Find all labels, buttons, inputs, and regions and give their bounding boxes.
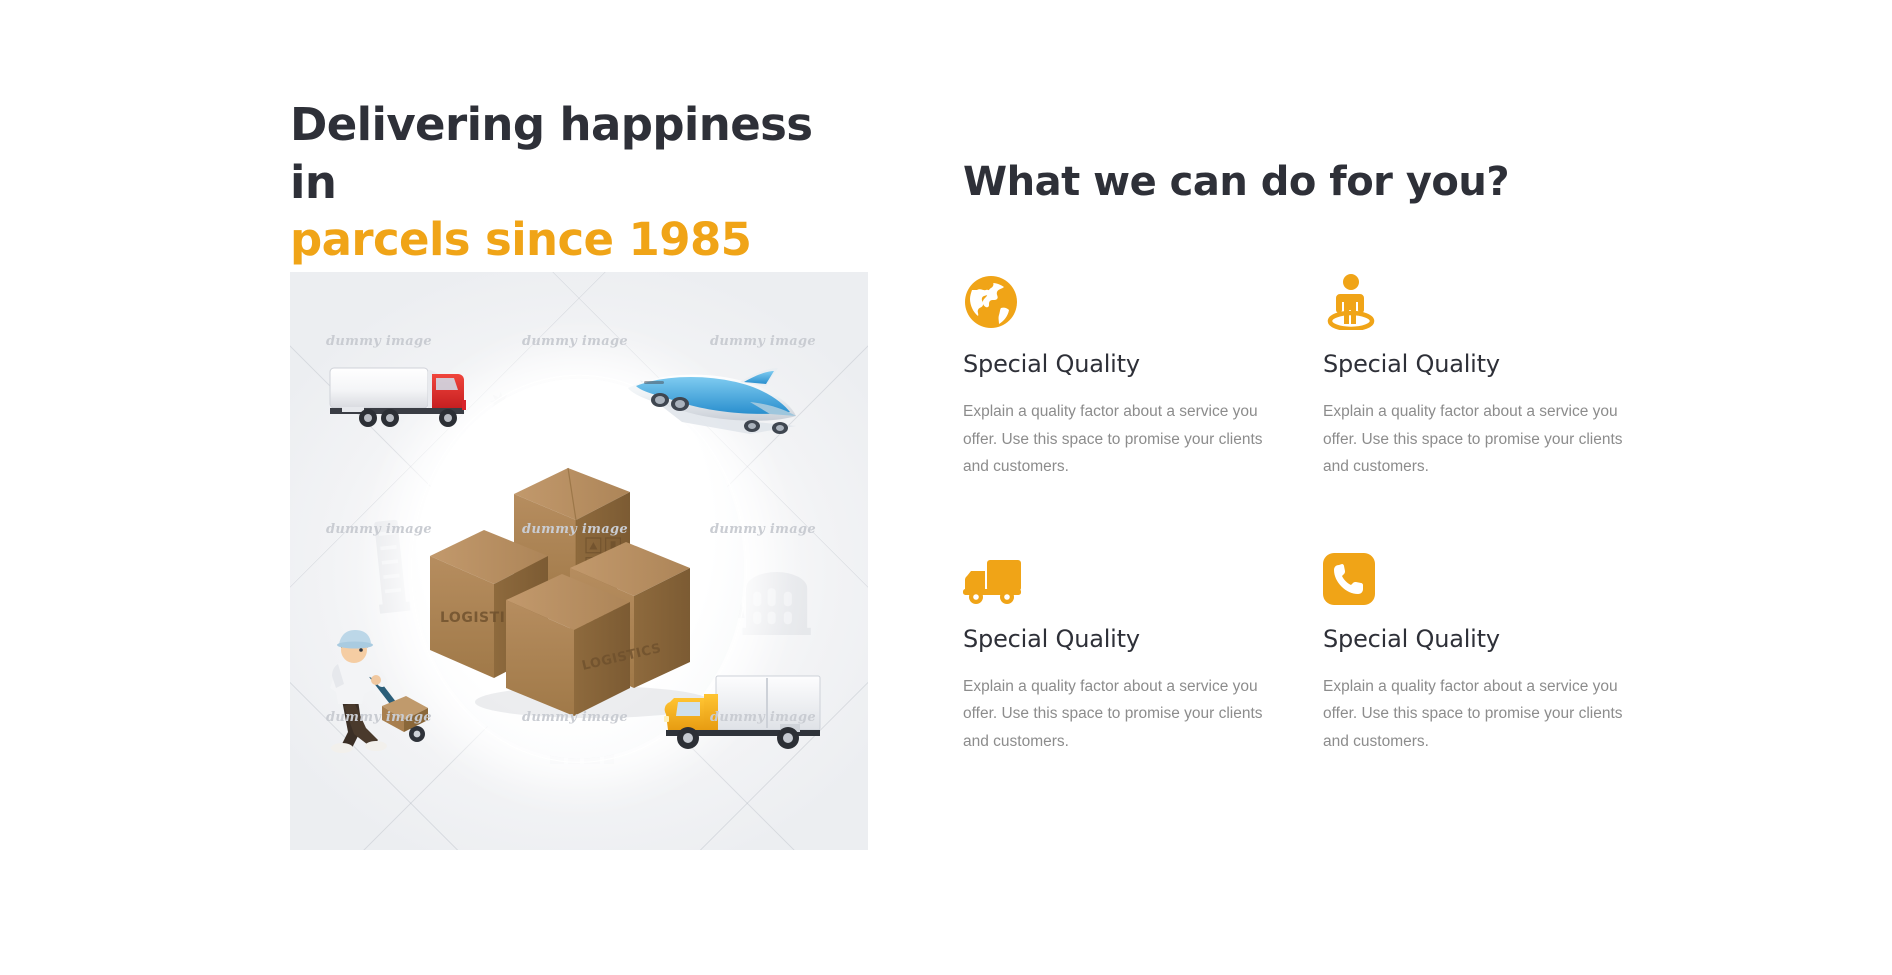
service-card-title: Special Quality (1323, 625, 1643, 653)
landing-page-section: Delivering happiness in parcels since 19… (0, 0, 1892, 975)
cargo-truck-icon (328, 360, 480, 432)
person-location-icon (1323, 268, 1385, 330)
globe-icon (963, 268, 1025, 330)
services-header-block: What we can do for you? (963, 158, 1663, 206)
hero-title-line-2: parcels since 1985 (290, 211, 870, 269)
service-card-body: Explain a quality factor about a service… (1323, 673, 1643, 756)
service-card-body: Explain a quality factor about a service… (1323, 398, 1643, 481)
service-card-body: Explain a quality factor about a service… (963, 398, 1283, 481)
service-card-4[interactable]: Special Quality Explain a quality factor… (1323, 543, 1643, 756)
hero-text-block: Delivering happiness in parcels since 19… (290, 96, 870, 269)
logistics-illustration: LOGISTICS (290, 272, 868, 850)
services-heading: What we can do for you? (963, 158, 1663, 206)
hero-title-line-1: Delivering happiness in (290, 96, 870, 211)
watermark-text: dummy image (710, 710, 816, 725)
watermark-text: dummy image (522, 710, 628, 725)
service-card-3[interactable]: Special Quality Explain a quality factor… (963, 543, 1283, 756)
services-grid: Special Quality Explain a quality factor… (963, 268, 1683, 755)
page-title: Delivering happiness in parcels since 19… (290, 96, 870, 269)
watermark-text: dummy image (710, 334, 816, 349)
service-card-title: Special Quality (963, 350, 1283, 378)
service-card-1[interactable]: Special Quality Explain a quality factor… (963, 268, 1283, 481)
watermark-text: dummy image (326, 710, 432, 725)
service-card-2[interactable]: Special Quality Explain a quality factor… (1323, 268, 1643, 481)
watermark-text: dummy image (522, 334, 628, 349)
delivery-truck-icon (963, 543, 1025, 605)
watermark-text: dummy image (326, 522, 432, 537)
service-card-title: Special Quality (963, 625, 1283, 653)
watermark-text: dummy image (326, 334, 432, 349)
service-card-body: Explain a quality factor about a service… (963, 673, 1283, 756)
phone-icon (1323, 543, 1385, 605)
watermark-text: dummy image (710, 522, 816, 537)
watermark-text: dummy image (522, 522, 628, 537)
warehouse-worker-icon (314, 628, 444, 756)
service-card-title: Special Quality (1323, 350, 1643, 378)
